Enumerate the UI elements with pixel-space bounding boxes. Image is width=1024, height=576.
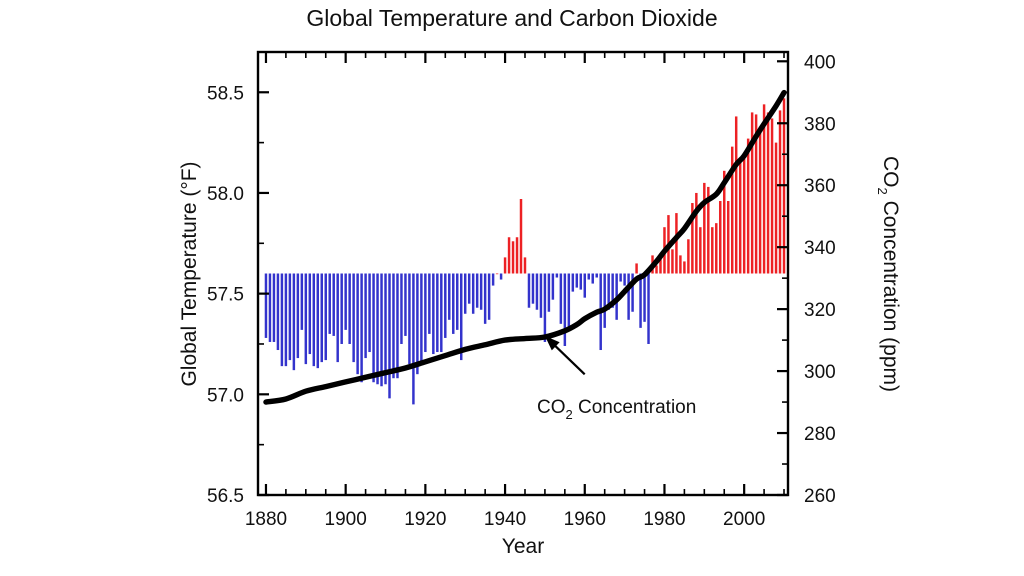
temperature-bar: [444, 274, 446, 338]
temperature-bar: [460, 274, 462, 361]
temperature-bar: [564, 274, 566, 346]
temperature-bar: [560, 274, 562, 324]
temperature-bar: [360, 274, 362, 383]
temperature-bar: [420, 274, 422, 363]
temperature-bar: [492, 274, 494, 286]
temperature-bar: [687, 239, 689, 273]
temperature-bar: [767, 112, 769, 273]
temperature-bar: [265, 274, 267, 338]
temperature-bar: [352, 274, 354, 363]
temperature-bar: [412, 274, 414, 405]
temperature-bar: [340, 274, 342, 344]
temperature-bar: [603, 274, 605, 328]
temperature-bar: [416, 274, 418, 375]
temperature-bar: [516, 237, 518, 273]
chart-title: Global Temperature and Carbon Dioxide: [306, 5, 717, 31]
y-axis-ticklabel: 58.0: [207, 184, 244, 205]
temperature-bar: [321, 274, 323, 363]
temperature-bar: [500, 274, 502, 280]
temperature-bar: [771, 118, 773, 273]
temperature-bar: [544, 274, 546, 342]
temperature-bar: [512, 241, 514, 273]
temperature-bar: [368, 274, 370, 353]
y2-axis-ticklabel: 380: [804, 114, 836, 135]
temperature-bar: [448, 274, 450, 320]
temperature-bar: [388, 274, 390, 399]
temperature-bar: [739, 163, 741, 274]
temperature-bar: [556, 274, 558, 278]
temperature-bar: [759, 127, 761, 274]
temperature-bar: [480, 274, 482, 310]
temperature-bar: [588, 274, 590, 280]
temperature-bar: [356, 274, 358, 375]
temperature-bar: [623, 274, 625, 286]
temperature-bar: [396, 274, 398, 379]
y2-axis-ticklabel: 400: [804, 52, 836, 73]
y2-axis-ticklabel: 260: [804, 486, 836, 507]
temperature-bar: [735, 116, 737, 273]
y-axis-ticklabel: 56.5: [207, 486, 244, 507]
temperature-bar: [699, 227, 701, 273]
temperature-bar: [743, 159, 745, 274]
temperature-bar: [568, 274, 570, 328]
temperature-bar: [348, 274, 350, 344]
temperature-bar: [376, 274, 378, 385]
temperature-bar: [392, 274, 394, 379]
temperature-bar: [428, 274, 430, 334]
temperature-bar: [440, 274, 442, 353]
temperature-bar: [671, 249, 673, 273]
chart-figure: Global Temperature and Carbon Dioxide 56…: [0, 0, 1024, 576]
temperature-bar: [293, 274, 295, 371]
temperature-bar: [655, 265, 657, 273]
y-axis-ticklabel: 58.5: [207, 83, 244, 104]
temperature-bar: [715, 223, 717, 273]
temperature-bar: [727, 201, 729, 273]
temperature-bar: [468, 274, 470, 304]
y2-axis-title-subscript: 2: [875, 188, 890, 195]
temperature-bar: [432, 274, 434, 355]
temperature-bar: [504, 257, 506, 273]
y2-axis-title-rest: Concentration (ppm): [879, 195, 902, 392]
temperature-bar: [580, 274, 582, 290]
annotation-label-main: CO: [537, 397, 566, 418]
temperature-bar: [595, 274, 597, 278]
temperature-bar: [332, 274, 334, 336]
y-axis-ticklabel: 57.5: [207, 285, 244, 306]
temperature-bar: [540, 274, 542, 318]
temperature-bar: [305, 274, 307, 365]
y2-axis-ticklabel: 360: [804, 176, 836, 197]
temperature-bar: [639, 274, 641, 328]
temperature-bar: [289, 274, 291, 361]
x-axis-ticklabel: 1980: [643, 509, 685, 530]
temperature-bar: [584, 274, 586, 298]
annotation-label-subscript: 2: [566, 407, 573, 422]
temperature-bar: [520, 199, 522, 274]
temperature-bar: [719, 201, 721, 273]
temperature-bar: [281, 274, 283, 367]
temperature-bar: [380, 274, 382, 387]
y2-axis-title-main: CO: [879, 156, 902, 188]
temperature-bar: [325, 274, 327, 361]
temperature-bar: [532, 274, 534, 304]
temperature-bar: [528, 274, 530, 308]
temperature-bar: [775, 143, 777, 274]
temperature-bar: [476, 274, 478, 308]
temperature-bar: [679, 255, 681, 273]
temperature-bar: [364, 274, 366, 359]
temperature-bar: [779, 110, 781, 273]
temperature-bar: [317, 274, 319, 369]
temperature-bar: [408, 274, 410, 365]
temperature-bar: [269, 274, 271, 342]
temperature-bar: [456, 274, 458, 330]
temperature-bar: [400, 274, 402, 344]
temperature-bar: [747, 139, 749, 274]
x-axis-ticklabel: 1880: [245, 509, 287, 530]
temperature-bar: [301, 274, 303, 330]
x-axis-ticklabel: 1920: [404, 509, 446, 530]
temperature-bar: [452, 274, 454, 334]
y2-axis-ticklabel: 320: [804, 300, 836, 321]
temperature-bar: [635, 263, 637, 273]
temperature-bar: [496, 274, 498, 275]
temperature-bar: [436, 274, 438, 353]
temperature-bar: [675, 213, 677, 273]
temperature-bar: [285, 274, 287, 367]
temperature-bar: [464, 274, 466, 314]
temperature-bar: [643, 274, 645, 322]
y2-axis-ticklabel: 300: [804, 362, 836, 383]
temperature-bar: [372, 274, 374, 383]
x-axis-ticklabel: 1960: [564, 509, 606, 530]
temperature-bar: [472, 274, 474, 314]
temperature-bar: [576, 274, 578, 288]
temperature-bar: [683, 261, 685, 273]
y-axis-ticklabel: 57.0: [207, 385, 244, 406]
temperature-bar: [572, 274, 574, 292]
temperature-bar: [277, 274, 279, 351]
temperature-bar: [619, 274, 621, 282]
temperature-bar: [695, 193, 697, 274]
temperature-bar: [384, 274, 386, 385]
temperature-bar: [552, 274, 554, 300]
temperature-bar: [344, 274, 346, 330]
temperature-bar: [404, 274, 406, 336]
temperature-bar: [273, 274, 275, 342]
x-axis-ticklabel: 1940: [484, 509, 526, 530]
x-axis-ticklabel: 1900: [325, 509, 367, 530]
temperature-bar: [627, 274, 629, 320]
temperature-bar: [548, 274, 550, 312]
x-axis-ticklabel: 2000: [723, 509, 765, 530]
temperature-bar: [313, 274, 315, 367]
temperature-bar: [647, 274, 649, 344]
temperature-bar: [328, 274, 330, 334]
annotation-label-rest: Concentration: [573, 397, 697, 418]
x-axis-title: Year: [502, 535, 544, 558]
temperature-bar: [508, 237, 510, 273]
temperature-bar: [524, 257, 526, 273]
temperature-bar: [536, 274, 538, 310]
temperature-bar: [488, 274, 490, 320]
temperature-bar: [424, 274, 426, 353]
temperature-bar: [336, 274, 338, 363]
temperature-bar: [484, 274, 486, 324]
temperature-bar: [309, 274, 311, 355]
y2-axis-ticklabel: 340: [804, 238, 836, 259]
y-axis-title: Global Temperature (°F): [178, 161, 201, 386]
chart-svg: Global Temperature and Carbon Dioxide 56…: [0, 0, 1024, 576]
temperature-bar: [711, 227, 713, 273]
y2-axis-ticklabel: 280: [804, 424, 836, 445]
temperature-bar: [297, 274, 299, 359]
temperature-bar: [592, 274, 594, 284]
temperature-bar: [703, 183, 705, 274]
